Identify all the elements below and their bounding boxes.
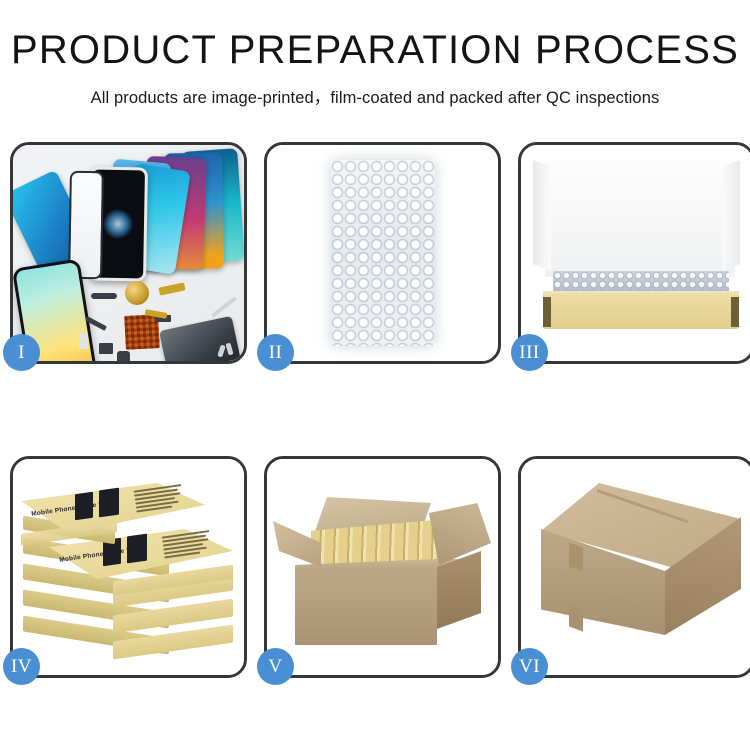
step-badge-1: I — [3, 334, 40, 371]
step-badge-5: V — [257, 648, 294, 685]
page-title: PRODUCT PREPARATION PROCESS — [0, 30, 750, 70]
box-lid-right-flap — [722, 160, 740, 270]
box-lid-panel — [545, 159, 735, 277]
small-part-3 — [117, 351, 130, 361]
vibration-motor-part — [125, 281, 149, 305]
step-image-6 — [521, 459, 750, 675]
sealed-carton-tape-lower — [569, 604, 583, 631]
box-stack: Mobile Phone Spare Parts Mobile Phone Sp… — [21, 477, 237, 667]
step-card-6: VI — [518, 456, 750, 678]
box-screen-image-4 — [127, 534, 147, 564]
box-lid-left-flap — [533, 160, 551, 270]
box-screen-image-1 — [75, 492, 93, 521]
screwdriver-tool — [211, 296, 237, 318]
carton-front-panel — [295, 567, 437, 645]
carton-left-flap — [273, 521, 321, 567]
carton-right-flap — [429, 503, 491, 565]
step-card-3: III — [518, 142, 750, 364]
step-image-1 — [13, 145, 244, 361]
header: PRODUCT PREPARATION PROCESS All products… — [0, 0, 750, 108]
small-part-2 — [99, 343, 113, 354]
box-screen-image-2 — [99, 488, 119, 518]
flex-cable-1 — [158, 282, 185, 295]
step-image-3 — [521, 145, 750, 361]
box-corner-notch-left — [543, 297, 551, 327]
box-base — [543, 295, 739, 329]
step-card-4: Mobile Phone Spare Parts Mobile Phone Sp… — [10, 456, 247, 678]
step-image-4: Mobile Phone Spare Parts Mobile Phone Sp… — [13, 459, 244, 675]
step-badge-6: VI — [511, 648, 548, 685]
bubble-wrap-pouch — [331, 160, 435, 346]
small-part-1 — [91, 293, 117, 299]
small-part-6 — [79, 333, 88, 349]
page-subtitle: All products are image-printed，film-coat… — [0, 84, 750, 108]
step-image-5 — [267, 459, 498, 675]
process-step-grid: I II III — [10, 142, 740, 678]
box-corner-notch-right — [731, 297, 739, 327]
step-card-5: V — [264, 456, 501, 678]
step-badge-2: II — [257, 334, 294, 371]
step-badge-4: IV — [3, 648, 40, 685]
step-image-2 — [267, 145, 498, 361]
step-card-1: I — [10, 142, 247, 364]
step-card-2: II — [264, 142, 501, 364]
step-badge-3: III — [511, 334, 548, 371]
sealed-carton-tape-upper — [569, 542, 583, 571]
